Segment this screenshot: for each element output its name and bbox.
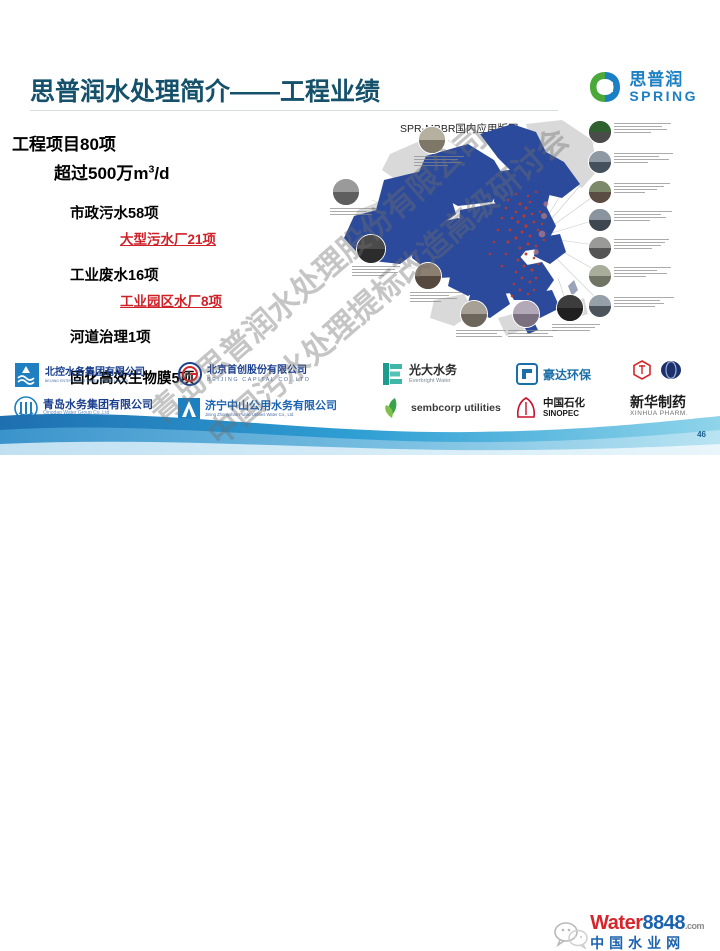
xinhua-pharm-secondary-icon	[660, 360, 682, 380]
project-caption	[330, 208, 382, 217]
project-caption	[552, 324, 608, 333]
haoda-huanbao-logo-icon	[516, 363, 538, 385]
project-photo	[588, 208, 612, 232]
partner-logo: 北控水务集团有限公司 BEIJING ENTERPRISES WATER GRO…	[14, 362, 145, 388]
title-divider	[30, 110, 558, 111]
project-photo	[512, 300, 540, 328]
project-photo	[588, 236, 612, 260]
xinhua-pharm-logo-icon	[632, 360, 652, 380]
project-photo	[556, 294, 584, 322]
project-photo	[588, 264, 612, 288]
project-photo	[414, 262, 442, 290]
capacity-prefix: 超过500万m	[54, 164, 148, 183]
project-photo	[418, 126, 446, 154]
wechat-icon	[554, 921, 588, 949]
water8848-brand: Water8848.com 中国水业网	[590, 913, 704, 950]
project-photo	[460, 300, 488, 328]
project-caption	[614, 153, 676, 165]
brand-name-en: SPRING	[629, 89, 698, 103]
brand-name-cn: 思普润	[629, 71, 698, 88]
partner-name-en: Everbright Water	[409, 378, 457, 384]
partner-name-cn: 北控水务集团有限公司	[45, 367, 145, 379]
slide-canvas: 思普润水处理简介——工程业绩 思普润 SPRING 工程项目80项 超过500万…	[0, 0, 720, 455]
project-caption	[614, 239, 676, 251]
brand-logo: 思普润 SPRING	[588, 70, 698, 104]
china-map-figure: SPR-MBBR国内应用版图	[330, 118, 720, 353]
project-photo	[588, 294, 590, 296]
project-caption	[614, 267, 676, 279]
bullet-total-capacity: 超过500万m3/d	[54, 159, 342, 184]
project-caption	[410, 292, 466, 304]
partner-logo	[632, 360, 682, 380]
footer-wave-graphic	[0, 404, 720, 455]
partner-name-cn: 豪达环保	[543, 366, 591, 383]
brand-domain-text: .com	[685, 921, 704, 931]
project-photo	[332, 178, 360, 206]
project-caption	[614, 297, 676, 309]
beijing-enterprises-water-logo-icon	[14, 362, 40, 388]
project-caption	[614, 123, 676, 135]
partner-logo: 北京首创股份有限公司 BEIJING CAPITAL CO.,LTD	[178, 362, 311, 386]
brand-cn-text: 中国水业网	[590, 936, 704, 950]
beijing-capital-logo-icon	[178, 362, 202, 386]
project-caption	[614, 211, 676, 223]
bullet-industrial-sub: 工业园区水厂8项	[120, 290, 342, 310]
brand-water-text: Water	[590, 912, 642, 934]
partner-name-en: BEIJING ENTERPRISES WATER GROUP LIMITED	[45, 379, 145, 383]
project-caption	[614, 183, 676, 195]
bullet-industrial: 工业废水16项	[70, 264, 342, 285]
project-photo	[588, 294, 612, 318]
partner-logo: 光大水务 Everbright Water	[382, 362, 457, 386]
page-title: 思普润水处理简介——工程业绩	[30, 72, 380, 108]
project-photo	[588, 120, 612, 144]
page-footer: Water8848.com 中国水业网	[0, 455, 720, 508]
bullet-municipal: 市政污水58项	[70, 202, 342, 223]
capacity-suffix: /d	[154, 164, 169, 183]
partner-name-cn: 光大水务	[409, 364, 457, 378]
page-number: 46	[697, 430, 706, 439]
partner-logo: 豪达环保	[516, 363, 591, 385]
project-photo	[356, 234, 386, 264]
spring-logo-mark-icon	[588, 70, 622, 104]
partner-name-cn: 北京首创股份有限公司	[207, 365, 311, 377]
project-caption	[352, 266, 408, 278]
project-caption	[456, 330, 512, 339]
project-photo	[588, 180, 612, 204]
bullet-municipal-sub: 大型污水厂21项	[120, 228, 342, 248]
brand-number-text: 8848	[642, 912, 685, 934]
bullet-total-projects: 工程项目80项	[12, 130, 342, 155]
project-photo	[588, 150, 612, 174]
project-caption	[414, 156, 470, 168]
everbright-water-logo-icon	[382, 362, 404, 386]
bullet-river: 河道治理1项	[70, 326, 342, 347]
partner-name-en: BEIJING CAPITAL CO.,LTD	[207, 377, 311, 383]
